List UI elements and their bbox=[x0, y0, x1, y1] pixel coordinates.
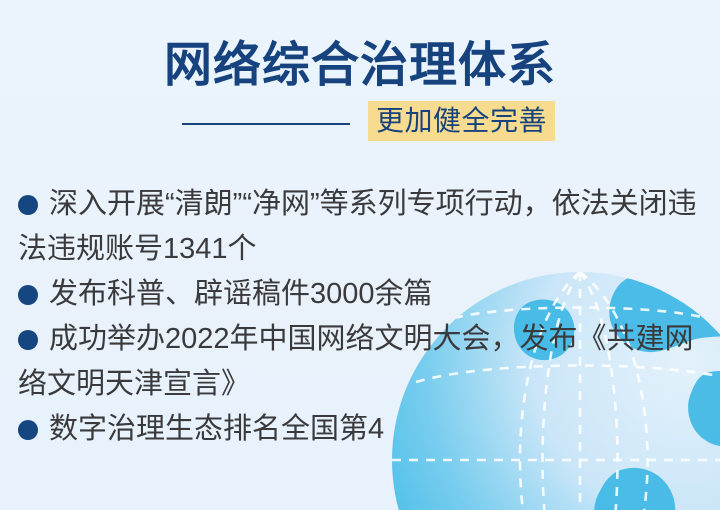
bullet-dot-icon bbox=[18, 330, 38, 350]
list-item: 深入开展“清朗”“净网”等系列专项行动，依法关闭违法违规账号1341个 bbox=[18, 182, 708, 272]
poster-canvas: 网络综合治理体系 更加健全完善 深入开展“清朗”“净网”等系列专项行动，依法关闭… bbox=[0, 0, 720, 510]
list-item-text: 发布科普、辟谣稿件3000余篇 bbox=[49, 278, 433, 310]
page-title: 网络综合治理体系 bbox=[0, 38, 720, 95]
list-item: 发布科普、辟谣稿件3000余篇 bbox=[18, 272, 708, 317]
bullet-list: 深入开展“清朗”“净网”等系列专项行动，依法关闭违法违规账号1341个 发布科普… bbox=[18, 182, 708, 452]
list-item-text: 成功举办2022年中国网络文明大会，发布《共建网络文明天津宣言》 bbox=[18, 323, 694, 400]
header: 网络综合治理体系 更加健全完善 bbox=[0, 38, 720, 145]
bullet-dot-icon bbox=[18, 285, 38, 305]
list-item: 数字治理生态排名全国第4 bbox=[18, 407, 708, 452]
status-badge: 更加健全完善 bbox=[368, 101, 555, 141]
list-item: 成功举办2022年中国网络文明大会，发布《共建网络文明天津宣言》 bbox=[18, 317, 708, 407]
bullet-dot-icon bbox=[18, 420, 38, 440]
list-item-text: 深入开展“清朗”“净网”等系列专项行动，依法关闭违法违规账号1341个 bbox=[18, 188, 697, 265]
title-divider bbox=[182, 123, 350, 125]
subheader-row: 更加健全完善 bbox=[0, 101, 720, 145]
bullet-dot-icon bbox=[18, 195, 38, 215]
list-item-text: 数字治理生态排名全国第4 bbox=[49, 413, 384, 445]
